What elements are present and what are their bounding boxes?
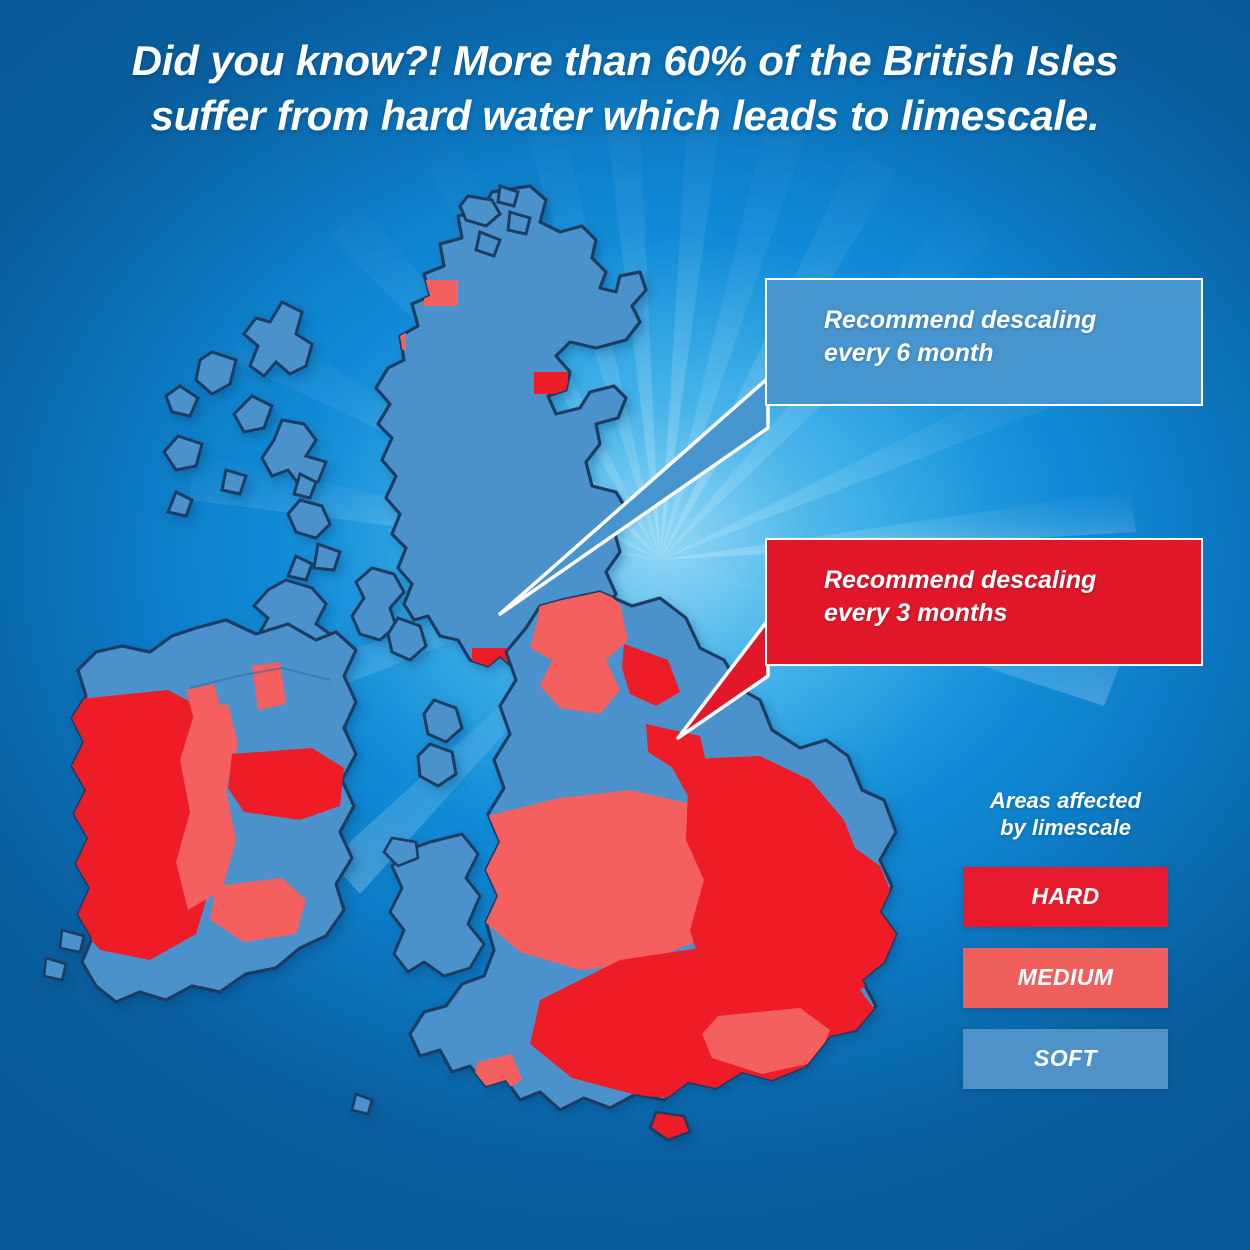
map-region-ireland — [56, 620, 356, 1002]
legend-swatch-hard[interactable]: HARD — [963, 867, 1168, 927]
callout-soft-water[interactable]: Recommend descaling every 6 month — [765, 278, 1203, 406]
callout-soft-text: Recommend descaling every 6 month — [767, 280, 1201, 369]
headline-line-1: Did you know?! More than 60% of the Brit… — [60, 34, 1190, 89]
callout-hard-text: Recommend descaling every 3 months — [767, 540, 1201, 629]
page-headline: Did you know?! More than 60% of the Brit… — [0, 34, 1250, 143]
legend-label-soft: SOFT — [1034, 1045, 1097, 1072]
map-legend: Areas affected by limescale HARD MEDIUM … — [963, 788, 1168, 1110]
legend-label-hard: HARD — [1031, 883, 1099, 910]
legend-title: Areas affected by limescale — [963, 788, 1168, 842]
legend-title-line-1: Areas affected — [963, 788, 1168, 815]
callout-soft-line-1: Recommend descaling — [824, 304, 1201, 337]
map-island-sw-ireland-2 — [44, 958, 66, 980]
infographic-canvas: Did you know?! More than 60% of the Brit… — [0, 0, 1250, 1250]
map-region-isle-of-wight — [650, 1112, 690, 1140]
callout-soft-line-2: every 6 month — [824, 337, 1201, 370]
headline-line-2: suffer from hard water which leads to li… — [60, 89, 1190, 144]
map-region-isle-of-man — [418, 744, 456, 786]
callout-hard-line-1: Recommend descaling — [824, 564, 1201, 597]
legend-title-line-2: by limescale — [963, 815, 1168, 842]
legend-swatch-soft[interactable]: SOFT — [963, 1029, 1168, 1089]
map-island-scilly — [352, 1094, 372, 1114]
callout-hard-line-2: every 3 months — [824, 597, 1201, 630]
callout-hard-water[interactable]: Recommend descaling every 3 months — [765, 538, 1203, 666]
legend-label-medium: MEDIUM — [1018, 964, 1114, 991]
map-island-sw-ireland — [60, 930, 84, 952]
legend-swatch-medium[interactable]: MEDIUM — [963, 948, 1168, 1008]
